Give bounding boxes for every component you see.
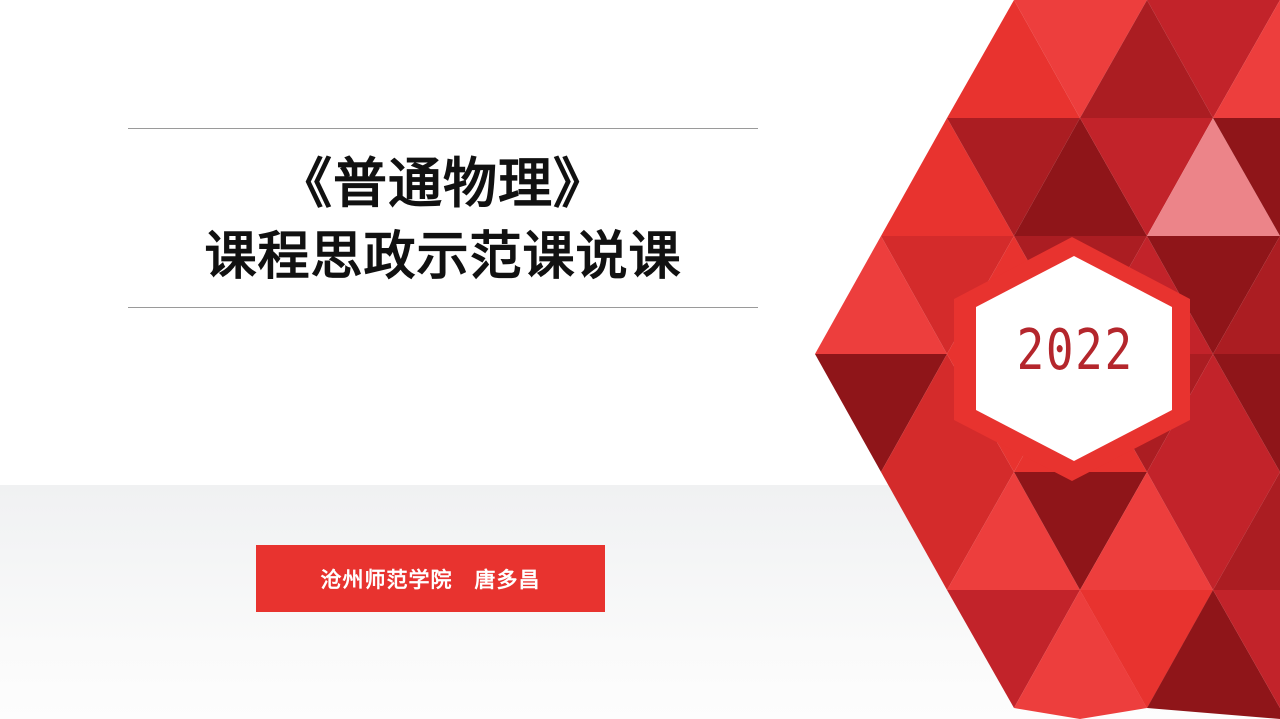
page-title-line-1: 《普通物理》 bbox=[128, 147, 758, 222]
page-title-line-2: 课程思政示范课说课 bbox=[128, 222, 758, 294]
title-block: 《普通物理》 课程思政示范课说课 bbox=[128, 128, 758, 308]
title-text-group: 《普通物理》 课程思政示范课说课 bbox=[128, 129, 758, 307]
year-badge-label: 2022 bbox=[1017, 318, 1132, 383]
decoration-triangle bbox=[1014, 708, 1147, 719]
title-rule-bottom bbox=[128, 307, 758, 308]
title-slide: 2022 《普通物理》 课程思政示范课说课 沧州师范学院 唐多昌 bbox=[0, 0, 1280, 719]
author-banner-label: 沧州师范学院 唐多昌 bbox=[321, 564, 541, 594]
decoration-triangle bbox=[1147, 708, 1280, 719]
author-banner: 沧州师范学院 唐多昌 bbox=[256, 545, 605, 612]
